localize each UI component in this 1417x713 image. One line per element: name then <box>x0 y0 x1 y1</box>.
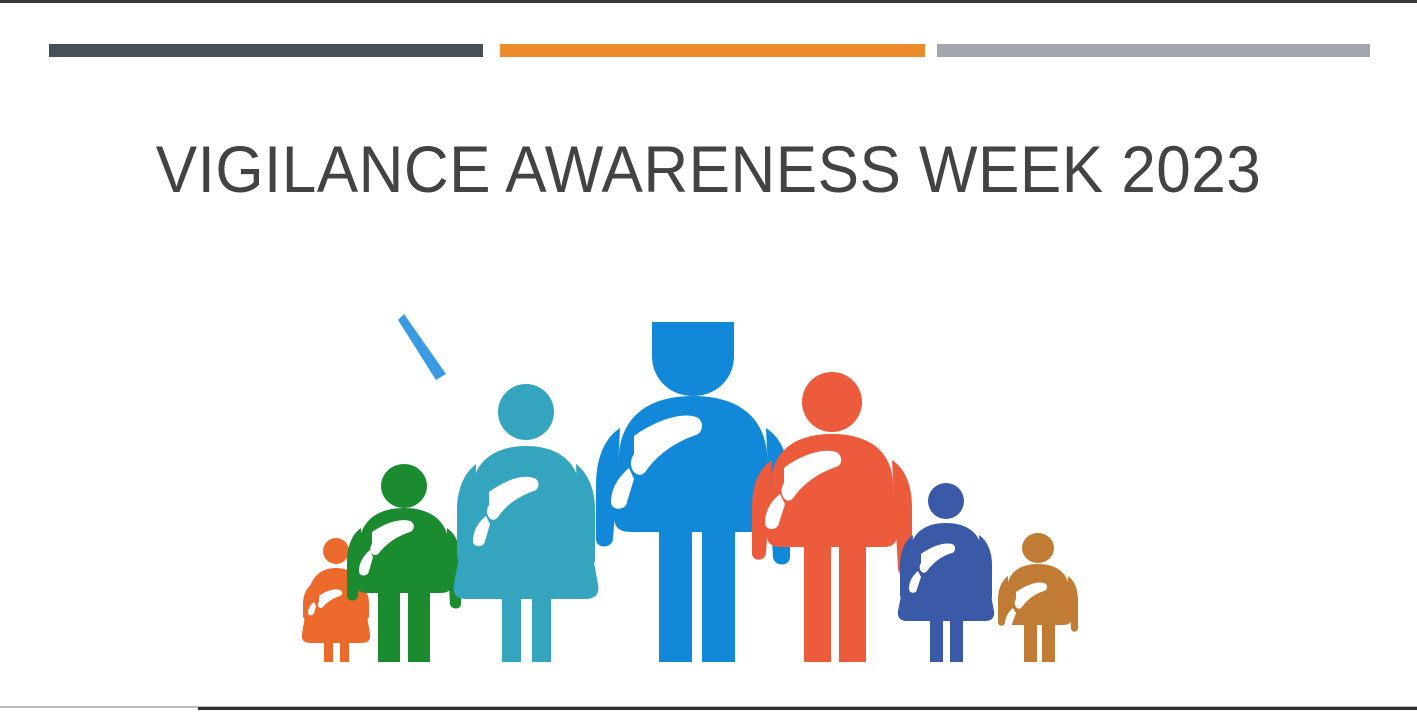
accent-bar-orange <box>500 44 925 57</box>
slide-viewport: VIGILANCE AWARENESS WEEK 2023 <box>0 0 1417 713</box>
slide-title: VIGILANCE AWARENESS WEEK 2023 <box>43 136 1375 202</box>
accent-bar-dark-slate <box>49 44 483 57</box>
figure-coral-man-icon <box>752 372 912 662</box>
accent-bar-gray <box>937 44 1370 57</box>
bottom-border-rule-dark <box>198 707 1417 710</box>
figure-brown-child-icon <box>998 533 1078 662</box>
figure-navy-woman-icon <box>898 483 994 662</box>
accent-bar-row <box>0 44 1417 62</box>
pledge-figures-illustration <box>286 296 1086 662</box>
top-border-rule <box>0 0 1417 3</box>
figure-teal-woman-icon <box>454 384 599 662</box>
blue-diagonal-sliver-icon <box>398 314 446 380</box>
